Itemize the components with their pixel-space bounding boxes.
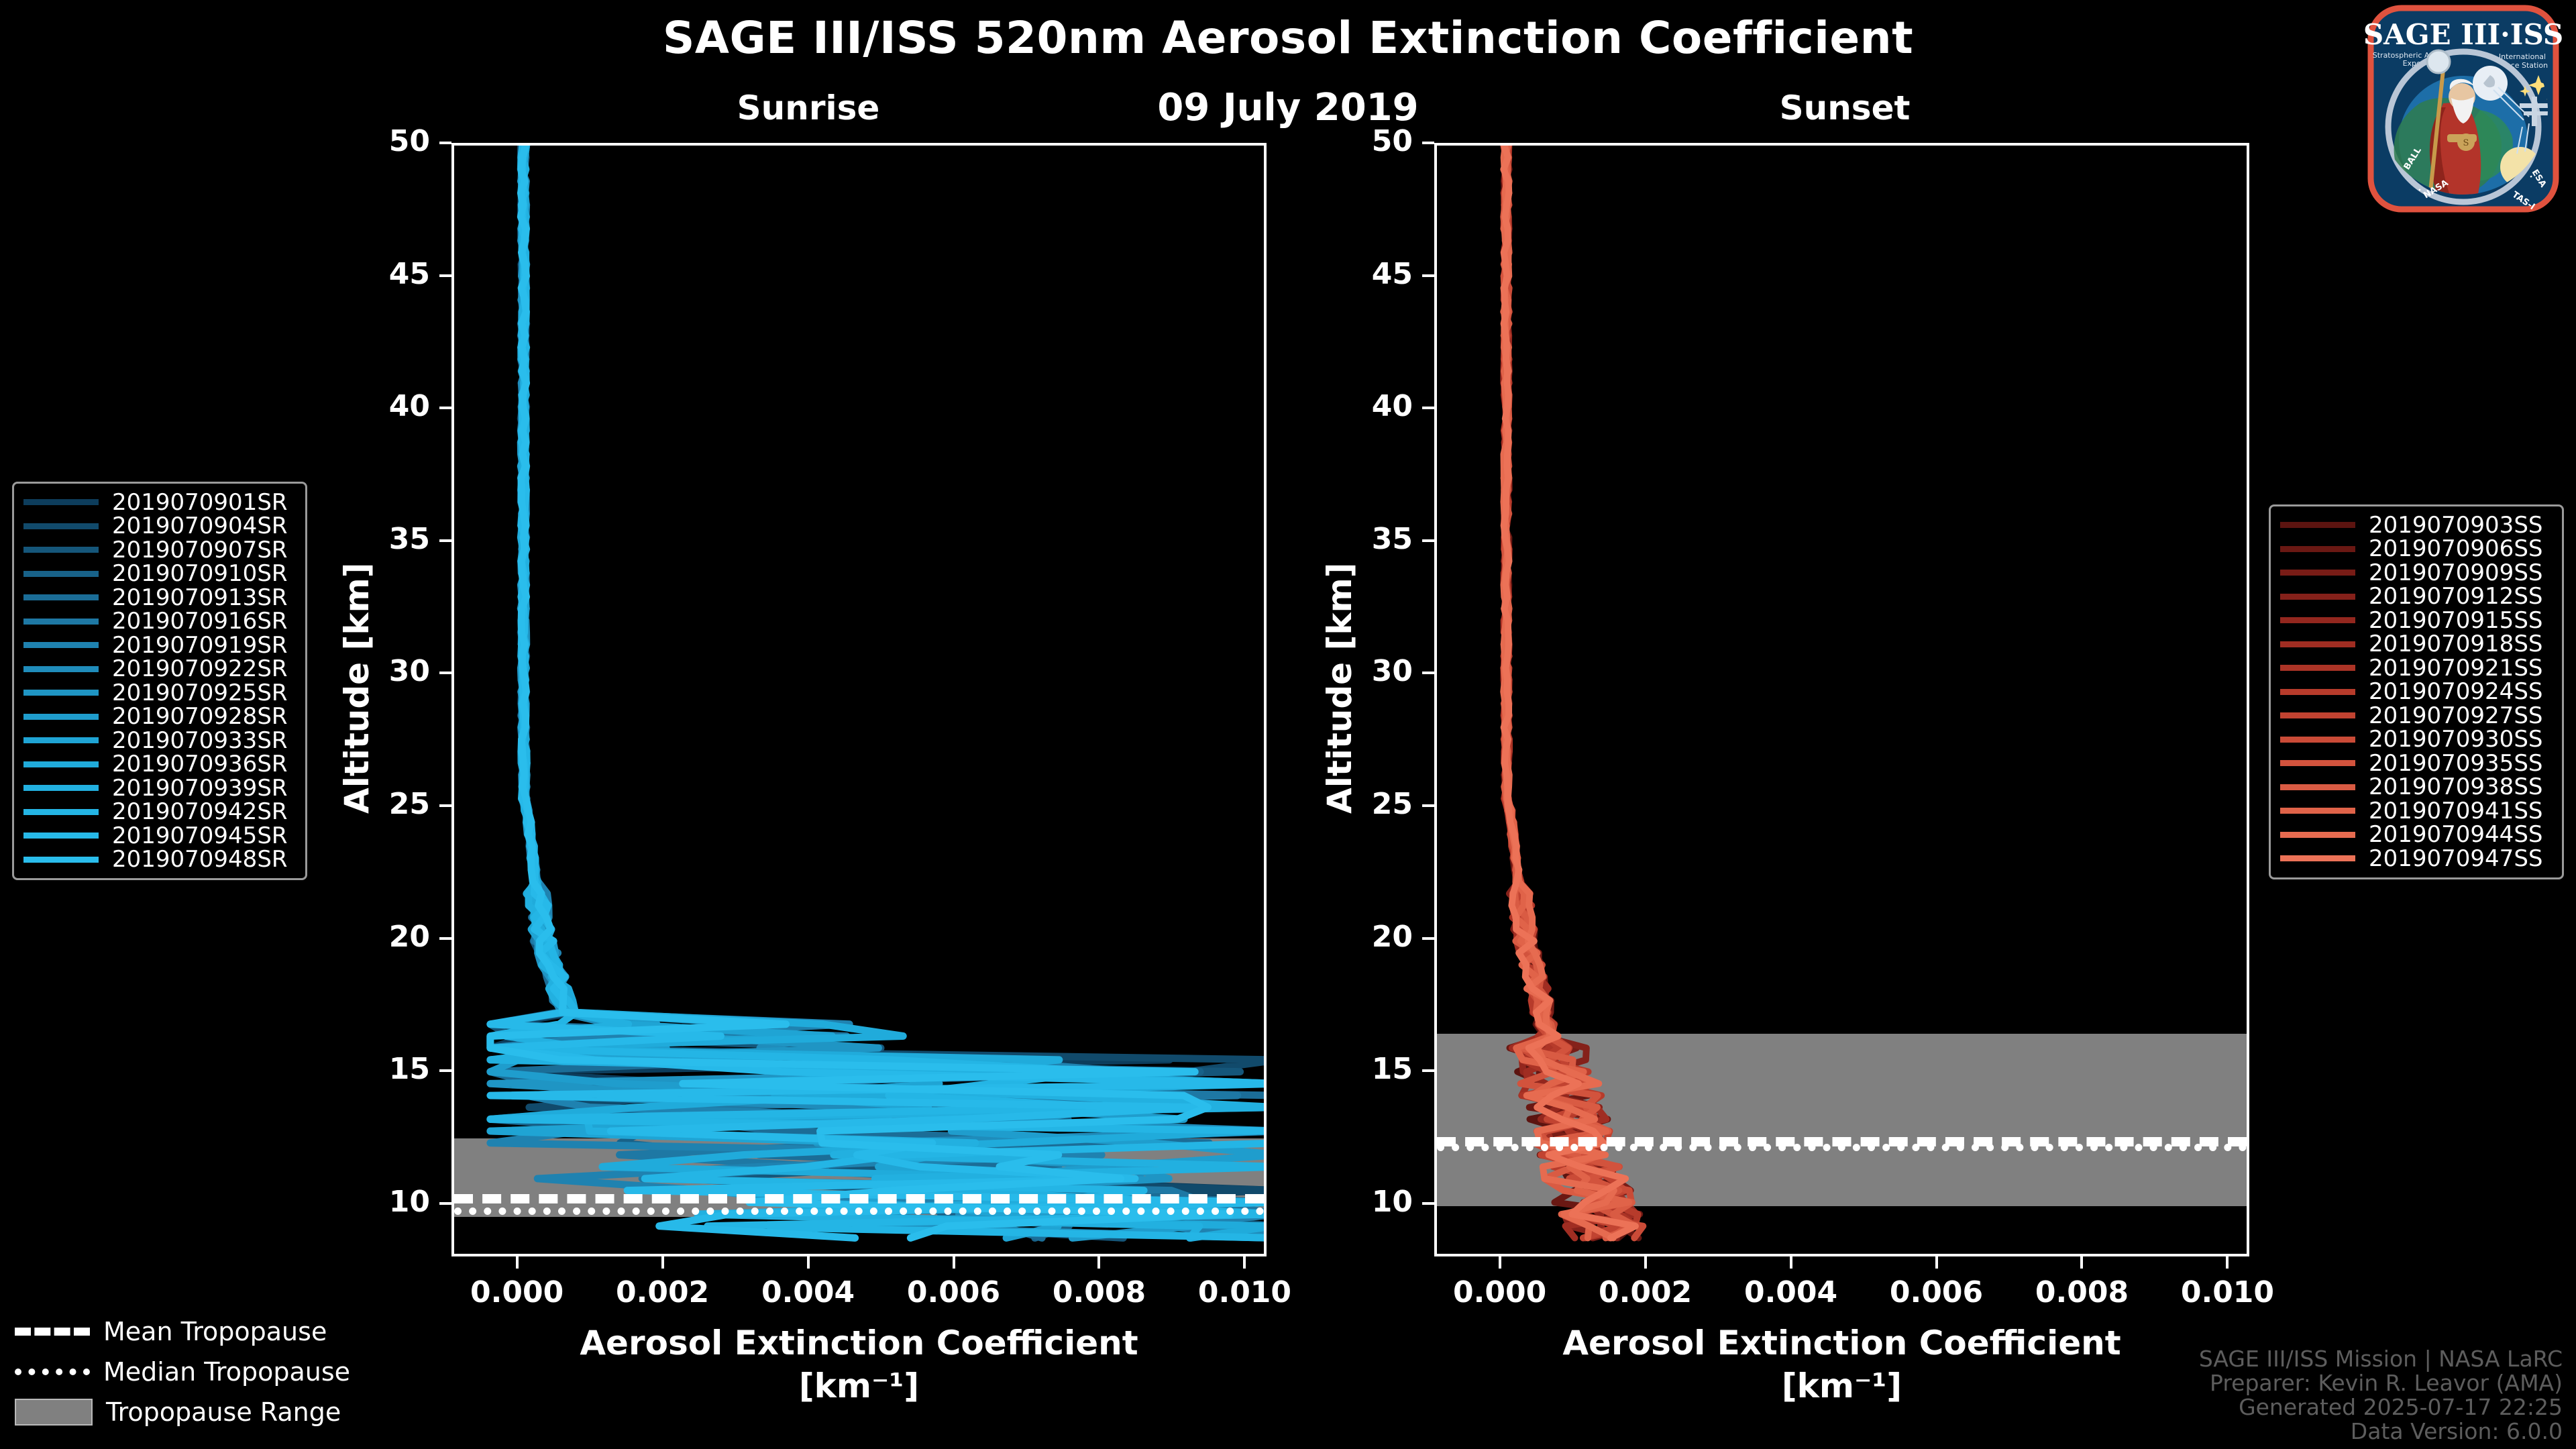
tropopause-legend-swatch — [15, 1399, 93, 1426]
median-tropopause-line — [454, 1207, 1264, 1215]
legend-item-label: 2019070936SR — [112, 751, 288, 777]
page-title: SAGE III/ISS 520nm Aerosol Extinction Co… — [0, 12, 2576, 64]
legend-color-swatch — [23, 571, 99, 577]
legend-item[interactable]: 2019070936SR — [23, 753, 296, 777]
legend-item[interactable]: 2019070942SR — [23, 800, 296, 824]
tropopause-legend-swatch — [15, 1368, 90, 1375]
y-tick-mark — [1422, 672, 1434, 674]
y-tick-label: 35 — [358, 522, 430, 556]
legend-item-label: 2019070941SS — [2369, 798, 2542, 824]
legend-item[interactable]: 2019070906SS — [2280, 537, 2553, 561]
legend-item[interactable]: 2019070939SR — [23, 776, 296, 800]
legend-color-swatch — [2280, 522, 2355, 528]
y-tick-mark — [439, 1069, 451, 1072]
x-tick-mark — [807, 1256, 810, 1269]
y-tick-mark — [439, 407, 451, 409]
legend-item-label: 2019070935SS — [2369, 750, 2542, 777]
legend-color-swatch — [2280, 737, 2355, 743]
x-tick-label: 0.010 — [1171, 1275, 1318, 1309]
legend-color-swatch — [2280, 712, 2355, 718]
x-tick-mark — [953, 1256, 955, 1269]
legend-item[interactable]: 2019070935SS — [2280, 751, 2553, 775]
legend-item-label: 2019070930SS — [2369, 726, 2542, 753]
y-tick-mark — [439, 142, 451, 144]
y-tick-mark — [1422, 1202, 1434, 1205]
y-tick-label: 40 — [358, 389, 430, 423]
legend-item[interactable]: 2019070944SS — [2280, 823, 2553, 847]
svg-text:S: S — [2463, 138, 2469, 148]
x-axis-label-sunrise: Aerosol Extinction Coefficient[km⁻¹] — [384, 1324, 1334, 1405]
svg-text:International: International — [2499, 52, 2546, 61]
legend-item[interactable]: 2019070919SR — [23, 633, 296, 657]
legend-color-swatch — [23, 594, 99, 600]
legend-item-label: 2019070904SR — [112, 513, 288, 539]
legend-item[interactable]: 2019070947SS — [2280, 847, 2553, 871]
tropopause-legend-swatch — [15, 1328, 90, 1336]
x-tick-mark — [516, 1256, 519, 1269]
legend-item[interactable]: 2019070904SR — [23, 515, 296, 539]
legend-item-label: 2019070925SR — [112, 680, 288, 706]
legend-item-label: 2019070913SR — [112, 584, 288, 611]
x-tick-mark — [1644, 1256, 1647, 1269]
mean-tropopause-line — [454, 1194, 1264, 1203]
legend-color-swatch — [2280, 665, 2355, 671]
x-tick-label: 0.008 — [1025, 1275, 1173, 1309]
profile-lines — [454, 146, 1264, 1254]
credits-line: Preparer: Kevin R. Leavor (AMA) — [2199, 1371, 2563, 1395]
legend-color-swatch — [2280, 760, 2355, 766]
y-tick-mark — [439, 672, 451, 674]
x-tick-mark — [661, 1256, 664, 1269]
legend-item-label: 2019070919SR — [112, 632, 288, 659]
figure-subtitle: 09 July 2019 — [0, 86, 2576, 129]
legend-color-swatch — [23, 857, 99, 863]
legend-item-label: 2019070922SR — [112, 655, 288, 682]
x-tick-label: 0.000 — [1426, 1275, 1574, 1309]
legend-color-swatch — [2280, 594, 2355, 600]
x-tick-mark — [1097, 1256, 1100, 1269]
legend-item-label: 2019070918SS — [2369, 631, 2542, 657]
legend-item-label: 2019070939SR — [112, 775, 288, 802]
y-tick-label: 35 — [1340, 522, 1413, 556]
legend-color-swatch — [23, 642, 99, 648]
legend-color-swatch — [23, 523, 99, 529]
legend-item-label: 2019070924SS — [2369, 678, 2542, 705]
legend-color-swatch — [2280, 570, 2355, 576]
legend-item[interactable]: 2019070922SR — [23, 657, 296, 682]
legend-color-swatch — [2280, 855, 2355, 861]
legend-item[interactable]: 2019070901SR — [23, 490, 296, 515]
legend-item[interactable]: 2019070938SS — [2280, 775, 2553, 800]
legend-item[interactable]: 2019070913SR — [23, 586, 296, 610]
legend-color-swatch — [2280, 832, 2355, 838]
x-tick-label: 0.002 — [1572, 1275, 1719, 1309]
legend-item[interactable]: 2019070916SR — [23, 610, 296, 634]
x-tick-label: 0.002 — [589, 1275, 737, 1309]
legend-item-label: 2019070910SR — [112, 560, 288, 587]
legend-item[interactable]: 2019070925SR — [23, 681, 296, 705]
legend-color-swatch — [23, 737, 99, 743]
x-tick-label: 0.006 — [880, 1275, 1028, 1309]
y-tick-mark — [439, 274, 451, 277]
svg-text:SAGE III·ISS: SAGE III·ISS — [2363, 18, 2563, 51]
x-axis-title-text: Aerosol Extinction Coefficient — [1367, 1324, 2316, 1362]
legend-item[interactable]: 2019070912SS — [2280, 585, 2553, 609]
legend-color-swatch — [23, 833, 99, 839]
legend-color-swatch — [2280, 808, 2355, 814]
legend-item[interactable]: 2019070903SS — [2280, 513, 2553, 537]
legend-item-label: 2019070945SR — [112, 822, 288, 849]
legend-item-label: 2019070927SS — [2369, 702, 2542, 729]
legend-item-label: 2019070912SS — [2369, 583, 2542, 610]
legend-color-swatch — [23, 714, 99, 720]
y-tick-label: 15 — [358, 1052, 430, 1086]
x-axis-units-text: [km⁻¹] — [1367, 1366, 2316, 1405]
legend-item[interactable]: 2019070915SS — [2280, 608, 2553, 633]
median-tropopause-line — [1437, 1144, 2247, 1151]
legend-item-label: 2019070916SR — [112, 608, 288, 635]
y-axis-label-sunrise: Altitude [km] — [337, 562, 376, 814]
y-tick-mark — [439, 539, 451, 542]
legend-item-label: 2019070948SR — [112, 846, 288, 873]
legend-item-label: 2019070907SR — [112, 537, 288, 563]
y-tick-label: 15 — [1340, 1052, 1413, 1086]
legend-color-swatch — [23, 809, 99, 815]
y-tick-mark — [1422, 407, 1434, 409]
panel-title-sunrise: Sunrise — [607, 89, 1010, 127]
legend-color-swatch — [23, 785, 99, 791]
legend-item[interactable]: 2019070921SS — [2280, 656, 2553, 680]
legend-item-label: 2019070944SS — [2369, 821, 2542, 848]
legend-item[interactable]: 2019070930SS — [2280, 728, 2553, 752]
legend-sunrise-events[interactable]: 2019070901SR2019070904SR2019070907SR2019… — [12, 482, 307, 880]
y-tick-mark — [1422, 142, 1434, 144]
legend-color-swatch — [23, 761, 99, 767]
y-tick-mark — [439, 804, 451, 807]
y-tick-label: 50 — [358, 124, 430, 158]
y-tick-mark — [1422, 937, 1434, 940]
y-tick-mark — [439, 1202, 451, 1205]
legend-item-label: 2019070921SS — [2369, 655, 2542, 682]
legend-color-swatch — [23, 547, 99, 553]
legend-color-swatch — [23, 666, 99, 672]
x-axis-units-text: [km⁻¹] — [384, 1366, 1334, 1405]
legend-item-label: 2019070928SR — [112, 703, 288, 730]
legend-item[interactable]: 2019070941SS — [2280, 799, 2553, 823]
y-tick-label: 10 — [358, 1185, 430, 1219]
y-tick-label: 20 — [1340, 920, 1413, 954]
legend-color-swatch — [2280, 784, 2355, 790]
x-tick-mark — [1935, 1256, 1938, 1269]
x-tick-label: 0.008 — [2008, 1275, 2155, 1309]
plot-area-sunset — [1434, 143, 2249, 1256]
y-tick-label: 10 — [1340, 1185, 1413, 1219]
tropopause-legend-item: Tropopause Range — [15, 1392, 364, 1432]
y-tick-mark — [1422, 274, 1434, 277]
legend-item-label: 2019070915SS — [2369, 607, 2542, 634]
y-tick-label: 45 — [1340, 257, 1413, 291]
legend-item[interactable]: 2019070909SS — [2280, 561, 2553, 585]
legend-color-swatch — [23, 499, 99, 505]
legend-color-swatch — [2280, 689, 2355, 695]
y-tick-label: 20 — [358, 920, 430, 954]
figure-canvas: SAGE III/ISS 520nm Aerosol Extinction Co… — [0, 0, 2576, 1449]
credits-block: SAGE III/ISS Mission | NASA LaRCPreparer… — [2199, 1347, 2563, 1444]
x-tick-label: 0.010 — [2153, 1275, 2301, 1309]
legend-item-label: 2019070947SS — [2369, 845, 2542, 872]
y-tick-mark — [1422, 539, 1434, 542]
x-tick-label: 0.000 — [443, 1275, 591, 1309]
x-tick-mark — [2080, 1256, 2083, 1269]
legend-item[interactable]: 2019070907SR — [23, 538, 296, 562]
tropopause-legend-item: Mean Tropopause — [15, 1311, 364, 1352]
legend-item-label: 2019070942SR — [112, 798, 288, 825]
y-tick-label: 45 — [358, 257, 430, 291]
profile-lines — [1437, 146, 2247, 1254]
tropopause-legend-label: Mean Tropopause — [103, 1317, 327, 1346]
y-tick-mark — [439, 937, 451, 940]
legend-sunset-events[interactable]: 2019070903SS2019070906SS2019070909SS2019… — [2269, 504, 2564, 879]
credits-line: Generated 2025-07-17 22:25 — [2199, 1395, 2563, 1419]
legend-item[interactable]: 2019070945SR — [23, 824, 296, 848]
sage-iii-iss-mission-patch-icon: SAGE III·ISS Stratospheric Aerosol and G… — [2356, 3, 2571, 217]
y-tick-mark — [1422, 804, 1434, 807]
legend-item[interactable]: 2019070928SR — [23, 705, 296, 729]
x-tick-mark — [2226, 1256, 2229, 1269]
legend-item[interactable]: 2019070910SR — [23, 562, 296, 586]
legend-color-swatch — [2280, 617, 2355, 623]
credits-line: Data Version: 6.0.0 — [2199, 1419, 2563, 1444]
x-axis-label-sunset: Aerosol Extinction Coefficient[km⁻¹] — [1367, 1324, 2316, 1405]
y-axis-label-sunset: Altitude [km] — [1320, 562, 1359, 814]
legend-color-swatch — [23, 690, 99, 696]
x-tick-mark — [1243, 1256, 1246, 1269]
x-tick-mark — [1499, 1256, 1501, 1269]
y-tick-label: 50 — [1340, 124, 1413, 158]
legend-item[interactable]: 2019070948SR — [23, 848, 296, 872]
tropopause-legend-label: Tropopause Range — [106, 1397, 341, 1427]
plot-area-sunrise — [451, 143, 1267, 1256]
x-tick-mark — [1790, 1256, 1792, 1269]
legend-item[interactable]: 2019070918SS — [2280, 633, 2553, 657]
x-axis-title-text: Aerosol Extinction Coefficient — [384, 1324, 1334, 1362]
tropopause-legend-item: Median Tropopause — [15, 1352, 364, 1392]
panel-title-sunset: Sunset — [1644, 89, 2046, 127]
legend-item-label: 2019070906SS — [2369, 535, 2542, 562]
legend-item-label: 2019070901SR — [112, 489, 288, 516]
legend-color-swatch — [2280, 546, 2355, 552]
legend-item-label: 2019070933SR — [112, 727, 288, 754]
legend-item[interactable]: 2019070933SR — [23, 729, 296, 753]
legend-color-swatch — [23, 619, 99, 625]
legend-tropopause: Mean TropopauseMedian TropopauseTropopau… — [15, 1311, 364, 1432]
legend-item[interactable]: 2019070927SS — [2280, 704, 2553, 728]
legend-item-label: 2019070938SS — [2369, 773, 2542, 800]
legend-item-label: 2019070903SS — [2369, 512, 2542, 539]
credits-line: SAGE III/ISS Mission | NASA LaRC — [2199, 1347, 2563, 1371]
legend-item[interactable]: 2019070924SS — [2280, 680, 2553, 704]
legend-color-swatch — [2280, 641, 2355, 647]
y-tick-label: 40 — [1340, 389, 1413, 423]
legend-item-label: 2019070909SS — [2369, 559, 2542, 586]
y-tick-mark — [1422, 1069, 1434, 1072]
x-tick-label: 0.006 — [1863, 1275, 2010, 1309]
x-tick-label: 0.004 — [1717, 1275, 1865, 1309]
tropopause-legend-label: Median Tropopause — [103, 1357, 350, 1387]
x-tick-label: 0.004 — [735, 1275, 882, 1309]
